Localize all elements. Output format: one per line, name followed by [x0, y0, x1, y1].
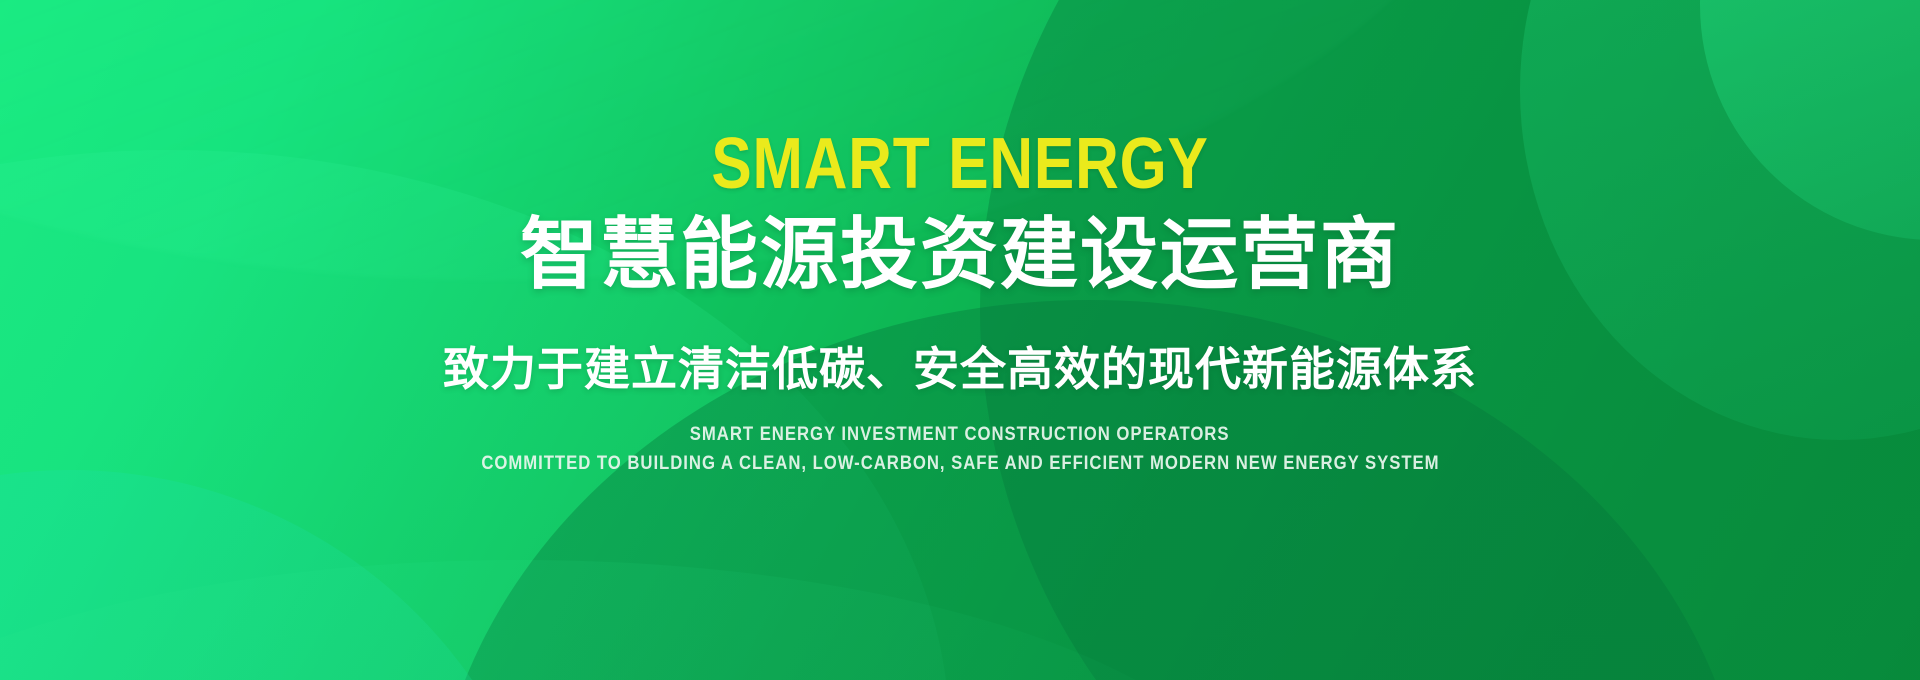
banner-tagline-group: SMART ENERGY INVESTMENT CONSTRUCTION OPE… — [416, 423, 1505, 476]
banner-tagline-line-2: COMMITTED TO BUILDING A CLEAN, LOW-CARBO… — [481, 452, 1439, 476]
banner-headline-english: SMART ENERGY — [711, 128, 1208, 200]
banner-content: SMART ENERGY 智慧能源投资建设运营商 致力于建立清洁低碳、安全高效的… — [0, 0, 1920, 680]
hero-banner: SMART ENERGY 智慧能源投资建设运营商 致力于建立清洁低碳、安全高效的… — [0, 0, 1920, 680]
banner-headline-chinese: 智慧能源投资建设运营商 — [520, 214, 1400, 296]
banner-subheadline-chinese: 致力于建立清洁低碳、安全高效的现代新能源体系 — [443, 342, 1477, 397]
banner-tagline-line-1: SMART ENERGY INVESTMENT CONSTRUCTION OPE… — [690, 423, 1230, 447]
